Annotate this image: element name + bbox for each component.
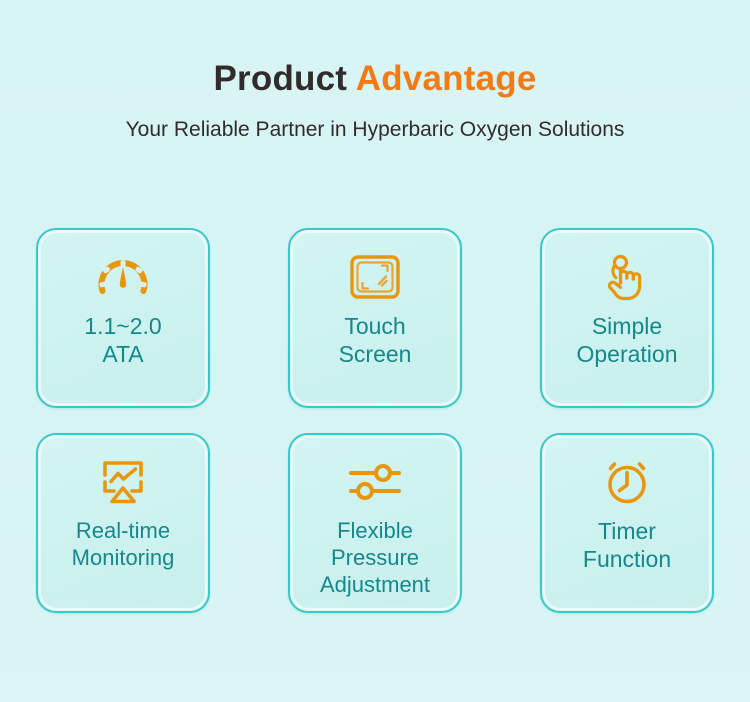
page-title: Product Advantage <box>0 60 750 99</box>
touch-screen-icon <box>349 250 401 304</box>
advantage-card-real-time-monitoring[interactable]: Real-time Monitoring <box>36 433 210 613</box>
product-advantage-page: Product Advantage Your Reliable Partner … <box>0 0 750 702</box>
page-subtitle: Your Reliable Partner in Hyperbaric Oxyg… <box>0 117 750 142</box>
page-title-main: Product <box>214 59 356 98</box>
advantage-card-label: 1.1~2.0 ATA <box>78 312 167 368</box>
chart-board-icon <box>97 455 149 509</box>
page-title-accent: Advantage <box>356 59 537 98</box>
advantage-card-ata[interactable]: 1.1~2.0 ATA <box>36 228 210 408</box>
advantage-card-label: Timer Function <box>577 517 677 573</box>
advantage-card-touch-screen[interactable]: Touch Screen <box>288 228 462 408</box>
hand-tap-icon <box>604 250 650 304</box>
advantage-card-pressure-adjustment[interactable]: Flexible Pressure Adjustment <box>288 433 462 613</box>
page-header: Product Advantage Your Reliable Partner … <box>0 0 750 142</box>
advantage-card-simple-operation[interactable]: Simple Operation <box>540 228 714 408</box>
advantage-card-grid: 1.1~2.0 ATA Touch Screen <box>36 228 714 613</box>
advantage-card-label: Simple Operation <box>570 312 683 368</box>
advantage-card-timer-function[interactable]: Timer Function <box>540 433 714 613</box>
advantage-card-label: Real-time Monitoring <box>66 517 181 571</box>
alarm-clock-icon <box>602 455 652 509</box>
gauge-icon <box>97 250 149 304</box>
advantage-card-label: Flexible Pressure Adjustment <box>314 517 436 598</box>
sliders-icon <box>347 455 403 509</box>
advantage-card-label: Touch Screen <box>333 312 418 368</box>
